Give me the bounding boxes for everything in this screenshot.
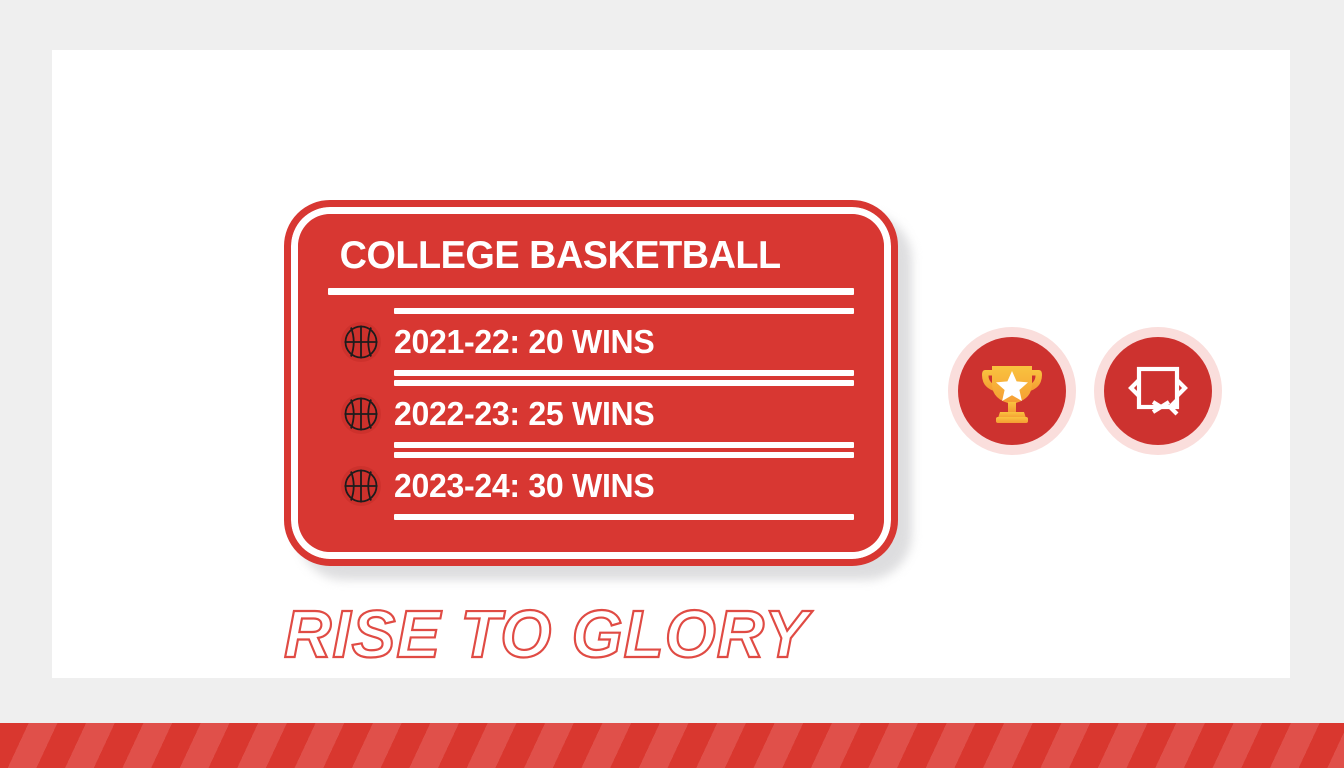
content-panel: COLLEGE BASKETBALL <box>52 50 1290 678</box>
basketball-icon-cell <box>328 320 394 364</box>
basketball-icon <box>339 392 383 436</box>
stat-row-divider-top <box>394 308 854 314</box>
slide-root: COLLEGE BASKETBALL <box>0 0 1344 768</box>
stat-row-label: 2021-22: 20 WINS <box>394 323 654 361</box>
trophy-badge[interactable] <box>948 327 1076 455</box>
title-divider <box>328 288 854 295</box>
stat-row-divider-bottom <box>394 442 854 448</box>
stats-card-frame: COLLEGE BASKETBALL <box>284 200 898 566</box>
headline-text: RISE TO GLORY <box>284 598 970 672</box>
trophy-star-icon <box>977 356 1047 426</box>
stat-row: 2023-24: 30 WINS <box>328 450 854 522</box>
stat-row-body: 2022-23: 25 WINS <box>394 378 854 450</box>
stat-row: 2022-23: 25 WINS <box>328 378 854 450</box>
basketball-icon <box>339 320 383 364</box>
basketball-icon-cell <box>328 392 394 436</box>
stats-card: COLLEGE BASKETBALL <box>284 200 912 580</box>
basketball-icon <box>339 464 383 508</box>
stat-row-body: 2023-24: 30 WINS <box>394 450 854 522</box>
basketball-icon-cell <box>328 464 394 508</box>
trophy-badge-core <box>958 337 1066 445</box>
stat-row-divider-bottom <box>394 370 854 376</box>
bottom-striped-band <box>0 723 1344 768</box>
stat-row-body: 2021-22: 20 WINS <box>394 306 854 378</box>
stat-row-divider-top <box>394 452 854 458</box>
stat-row-label: 2023-24: 30 WINS <box>394 467 654 505</box>
stat-row: 2021-22: 20 WINS <box>328 306 854 378</box>
stat-row-label: 2022-23: 25 WINS <box>394 395 654 433</box>
card-title: COLLEGE BASKETBALL <box>328 236 838 276</box>
stat-row-list: 2021-22: 20 WINS <box>328 306 854 522</box>
expand-arrows-icon <box>1125 358 1191 424</box>
growth-badge-core <box>1104 337 1212 445</box>
stats-card-body: COLLEGE BASKETBALL <box>298 214 884 552</box>
stat-row-divider-top <box>394 380 854 386</box>
growth-badge[interactable] <box>1094 327 1222 455</box>
stat-row-divider-bottom <box>394 514 854 520</box>
